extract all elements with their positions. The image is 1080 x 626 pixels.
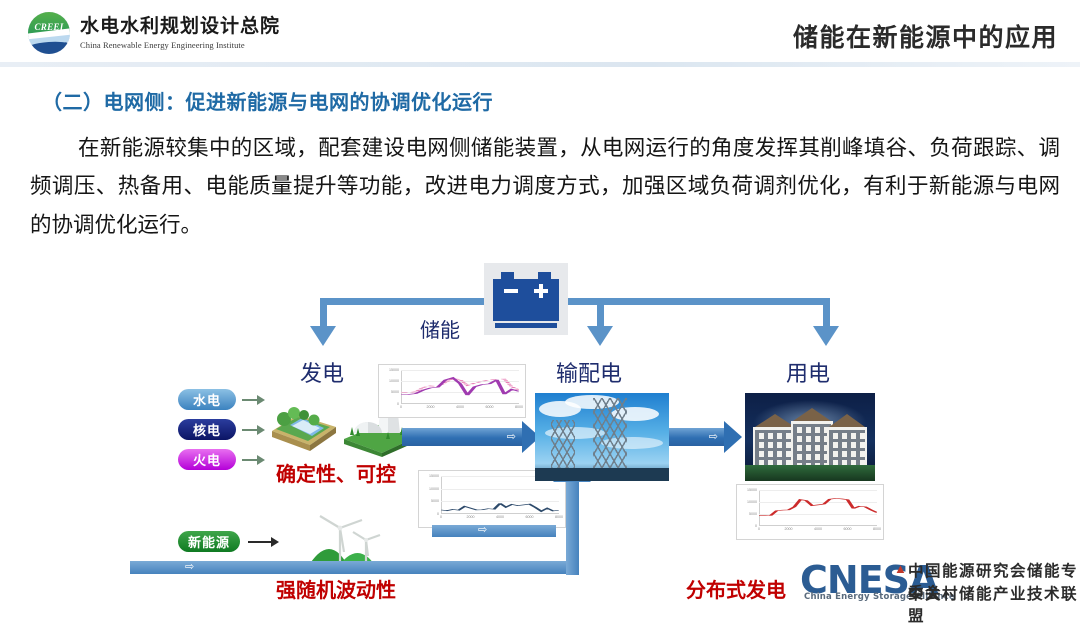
battery-icon bbox=[493, 270, 559, 328]
source-pill-thermal: 火电 bbox=[178, 449, 236, 470]
tower-lattice-near bbox=[593, 398, 627, 468]
org-name-en: China Renewable Energy Engineering Insti… bbox=[80, 40, 280, 50]
flow-arrow-mini-icon: ⇨ bbox=[709, 432, 718, 442]
chart-plot-area: 15000 10000 5000 0 0 2000 4000 6000 8000 bbox=[759, 490, 877, 526]
busbar-right-stem bbox=[823, 298, 830, 328]
arrow-to-transmission bbox=[587, 326, 613, 346]
renewable-flow-bar bbox=[432, 525, 556, 537]
header-divider bbox=[0, 62, 1080, 67]
busbar-left bbox=[320, 298, 490, 305]
storage-label: 储能 bbox=[420, 314, 460, 343]
org-name-cn: 水电水利规划设计总院 bbox=[80, 16, 280, 38]
storage-battery-container bbox=[484, 263, 568, 335]
flow-arrow-grid-to-load: ⇨ bbox=[668, 428, 742, 446]
chart-plot-area: 15000 10000 5000 0 0 2000 4000 6000 8000 bbox=[401, 370, 519, 404]
hydro-dam-icon bbox=[268, 397, 340, 453]
node-label-generation: 发电 bbox=[300, 356, 344, 388]
flow-arrow-generation-to-grid: ⇨ bbox=[402, 428, 540, 446]
arrow-to-generation bbox=[310, 326, 336, 346]
busbar-mid-stem bbox=[597, 298, 604, 328]
arrow-to-consumption bbox=[813, 326, 839, 346]
source-pill-hydropower-label: 水电 bbox=[193, 390, 221, 409]
arrow-thermal bbox=[242, 459, 264, 461]
cnesa-cn-line-2: 中关村储能产业技术联盟 bbox=[908, 582, 1080, 626]
source-pill-new-energy: 新能源 bbox=[178, 531, 240, 552]
flow-arrow-mini-icon: ⇨ bbox=[507, 432, 516, 442]
source-pill-hydropower: 水电 bbox=[178, 389, 236, 410]
chart-plot-area: 15000 10000 5000 0 0 2000 4000 6000 8000 bbox=[441, 476, 559, 514]
chart-distributed-generation: 15000 10000 5000 0 0 2000 4000 6000 8000 bbox=[736, 484, 884, 540]
series-renewable bbox=[441, 503, 559, 511]
arrow-nuclear bbox=[242, 429, 264, 431]
roof-right bbox=[829, 414, 865, 427]
logo-mark-text: CREEI bbox=[28, 22, 70, 32]
slide-title: 储能在新能源中的应用 bbox=[793, 18, 1058, 54]
roof-left bbox=[755, 414, 795, 427]
source-pill-nuclear-label: 核电 bbox=[193, 420, 221, 439]
source-pill-thermal-label: 火电 bbox=[193, 450, 221, 469]
slide-header: CREEI 水电水利规划设计总院 China Renewable Energy … bbox=[0, 0, 1080, 62]
institute-logo-block: CREEI 水电水利规划设计总院 China Renewable Energy … bbox=[28, 12, 280, 54]
node-label-consumption: 用电 bbox=[786, 356, 830, 388]
arrow-hydropower bbox=[242, 399, 264, 401]
transmission-tower-photo bbox=[535, 393, 669, 481]
arrow-new-energy bbox=[248, 541, 278, 543]
body-paragraph: 在新能源较集中的区域，配套建设电网侧储能装置，从电网运行的角度发挥其削峰填谷、负… bbox=[30, 130, 1060, 245]
distributed-flow-bar-icon: ⇨ bbox=[185, 563, 194, 572]
caption-distributed-generation: 分布式发电 bbox=[686, 574, 786, 603]
series-distributed bbox=[759, 498, 877, 515]
caption-deterministic-controllable: 确定性、可控 bbox=[276, 458, 396, 487]
cnesa-watermark: CNESA ▲ China Energy Storage Alliance 中国… bbox=[790, 556, 1080, 608]
flame-icon: ▲ bbox=[894, 561, 907, 576]
residential-buildings-photo bbox=[745, 393, 875, 481]
tower-lattice-far bbox=[551, 420, 575, 468]
caption-strong-random-volatility: 强随机波动性 bbox=[276, 574, 396, 603]
source-pill-nuclear: 核电 bbox=[178, 419, 236, 440]
renewable-flow-bar-icon: ⇨ bbox=[478, 526, 487, 535]
section-heading: （二）电网侧：促进新能源与电网的协调优化运行 bbox=[42, 86, 493, 115]
distributed-flow-stem bbox=[566, 480, 579, 575]
chart-conventional-output: 15000 10000 5000 0 0 2000 4000 6000 8000 bbox=[378, 364, 526, 418]
distributed-flow-bar bbox=[130, 561, 579, 574]
building-right bbox=[827, 427, 867, 467]
creei-circular-logo-icon: CREEI bbox=[28, 12, 70, 54]
source-pill-new-energy-label: 新能源 bbox=[188, 532, 230, 551]
busbar-left-stem bbox=[320, 298, 327, 328]
roof-mid bbox=[793, 408, 831, 421]
node-label-transmission: 输配电 bbox=[556, 356, 622, 388]
